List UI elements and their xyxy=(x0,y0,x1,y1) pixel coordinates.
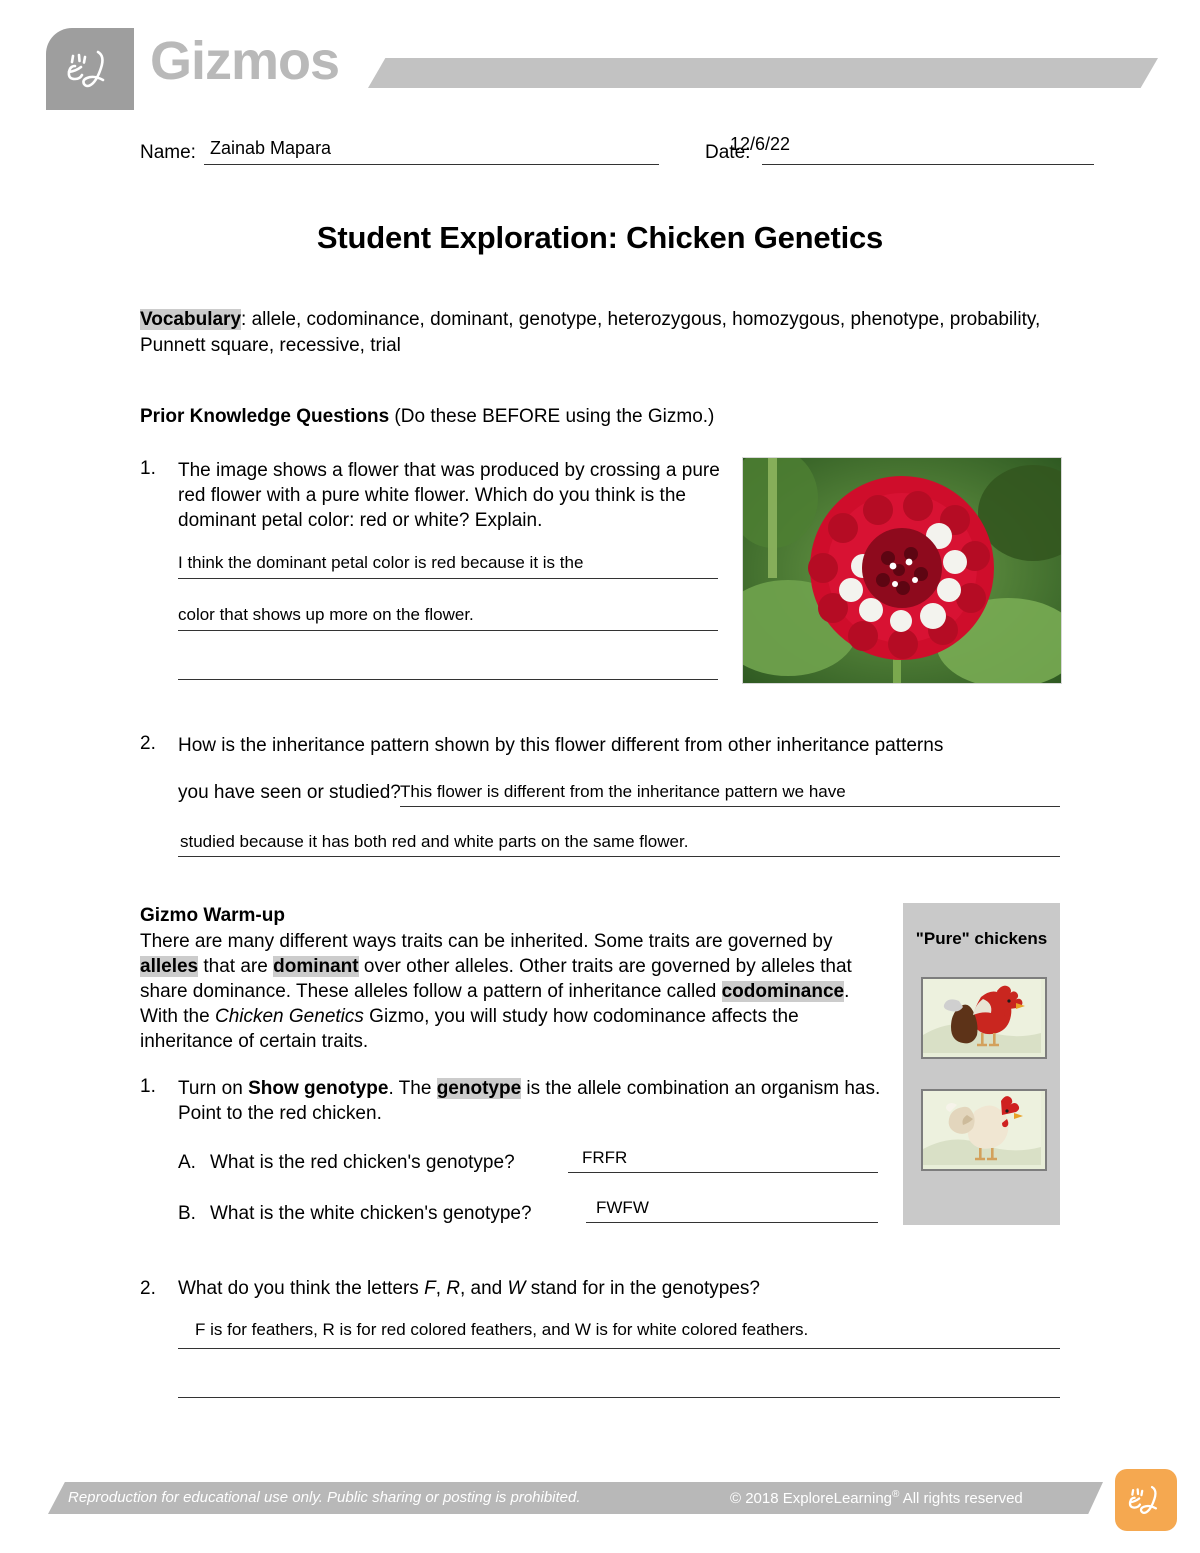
gizmo-q2-rule-1 xyxy=(178,1348,1060,1349)
gizmo-q2-text-b: , xyxy=(436,1278,447,1299)
question-2-answer-line-2[interactable]: studied because it has both red and whit… xyxy=(180,832,688,852)
question-2-rule-1 xyxy=(400,806,1060,807)
footer-notice: Reproduction for educational use only. P… xyxy=(68,1489,581,1506)
date-value[interactable]: 12/6/22 xyxy=(730,134,790,155)
gizmo-question-1-number: 1. xyxy=(140,1076,156,1098)
gizmo-q2-letter-r: R xyxy=(446,1278,460,1299)
question-1-text: The image shows a flower that was produc… xyxy=(178,458,743,533)
question-2-text-line-2: you have seen or studied? xyxy=(178,782,401,804)
prior-knowledge-heading: Prior Knowledge Questions (Do these BEFO… xyxy=(140,406,714,428)
page-title: Student Exploration: Chicken Genetics xyxy=(0,220,1200,256)
header-accent-bar xyxy=(368,58,1158,88)
question-2-text-line-1: How is the inheritance pattern shown by … xyxy=(178,733,1083,758)
gizmo-q1-a-rule xyxy=(568,1172,878,1173)
gizmo-q1-b-rule xyxy=(586,1222,878,1223)
prior-knowledge-heading-rest: (Do these BEFORE using the Gizmo.) xyxy=(389,406,714,427)
gizmo-q1-text-a: Turn on xyxy=(178,1078,248,1099)
vocabulary-terms: allele, codominance, dominant, genotype,… xyxy=(140,309,1040,356)
gizmos-logo-box xyxy=(46,28,134,110)
dahlia-flower-image xyxy=(742,457,1062,684)
name-label: Name: xyxy=(140,142,196,164)
prior-knowledge-heading-bold: Prior Knowledge Questions xyxy=(140,406,389,427)
question-1-number: 1. xyxy=(140,458,156,480)
gizmo-q1-a-text: What is the red chicken's genotype? xyxy=(210,1152,515,1174)
question-1-rule-3 xyxy=(178,679,718,680)
gizmo-q2-text-a: What do you think the letters xyxy=(178,1278,424,1299)
gizmo-q1-a-answer[interactable]: FRFR xyxy=(582,1148,627,1168)
gizmo-question-1-text: Turn on Show genotype. The genotype is t… xyxy=(178,1076,893,1126)
warmup-term-dominant: dominant xyxy=(273,956,359,977)
gizmo-q2-text-c: , and xyxy=(460,1278,508,1299)
gizmo-warmup-heading: Gizmo Warm-up xyxy=(140,905,285,927)
brand-title: Gizmos xyxy=(150,34,339,88)
white-chicken-image xyxy=(921,1089,1047,1171)
gizmo-q2-rule-2 xyxy=(178,1397,1060,1398)
gizmo-q2-text-d: stand for in the genotypes? xyxy=(525,1278,760,1299)
vocabulary-label: Vocabulary xyxy=(140,309,241,330)
warmup-term-alleles: alleles xyxy=(140,956,198,977)
gizmo-question-2-number: 2. xyxy=(140,1278,156,1300)
gizmo-question-2-text: What do you think the letters F, R, and … xyxy=(178,1278,1078,1300)
name-value[interactable]: Zainab Mapara xyxy=(210,138,331,159)
gizmo-q2-letter-w: W xyxy=(508,1278,526,1299)
question-2-number: 2. xyxy=(140,733,156,755)
footer-copyright-text: © 2018 ExploreLearning xyxy=(730,1490,892,1507)
gizmo-q1-term-genotype: genotype xyxy=(437,1078,521,1099)
gizmo-q1-b-letter: B. xyxy=(178,1203,196,1225)
worksheet-page: Gizmos Name: Zainab Mapara Date: 12/6/22… xyxy=(0,0,1200,1553)
name-rule xyxy=(204,164,659,165)
gizmo-q1-show-genotype: Show genotype xyxy=(248,1078,388,1099)
el-script-logo-icon-footer xyxy=(1115,1469,1177,1531)
footer-logo-badge xyxy=(1115,1469,1177,1531)
pure-chickens-panel: "Pure" chickens xyxy=(903,903,1060,1225)
el-script-logo-icon xyxy=(46,28,134,110)
question-2-answer-line-1[interactable]: This flower is different from the inheri… xyxy=(400,782,846,802)
gizmo-q1-text-b: . The xyxy=(388,1078,436,1099)
warmup-text-a: There are many different ways traits can… xyxy=(140,931,832,952)
gizmo-warmup-body: There are many different ways traits can… xyxy=(140,929,880,1054)
footer-copyright: © 2018 ExploreLearning® All rights reser… xyxy=(730,1489,1023,1507)
question-2-rule-2 xyxy=(178,856,1060,857)
warmup-text-b: that are xyxy=(198,956,273,977)
warmup-gizmo-name: Chicken Genetics xyxy=(215,1006,364,1027)
red-chicken-image xyxy=(921,977,1047,1059)
name-date-row: Name: Zainab Mapara Date: 12/6/22 xyxy=(140,134,1060,168)
gizmo-q2-letter-f: F xyxy=(424,1278,436,1299)
footer-rights-text: All rights reserved xyxy=(899,1490,1022,1507)
pure-chickens-title: "Pure" chickens xyxy=(903,929,1060,949)
vocabulary-block: Vocabulary: allele, codominance, dominan… xyxy=(140,307,1070,359)
question-1-answer-line-2[interactable]: color that shows up more on the flower. xyxy=(178,605,474,625)
gizmo-q1-b-text: What is the white chicken's genotype? xyxy=(210,1203,532,1225)
warmup-term-codominance: codominance xyxy=(722,981,844,1002)
question-1-rule-2 xyxy=(178,630,718,631)
date-rule xyxy=(762,164,1094,165)
gizmo-q2-answer-line-1[interactable]: F is for feathers, R is for red colored … xyxy=(195,1320,808,1340)
question-1-rule-1 xyxy=(178,578,718,579)
gizmo-q1-a-letter: A. xyxy=(178,1152,196,1174)
question-1-answer-line-1[interactable]: I think the dominant petal color is red … xyxy=(178,553,583,573)
gizmo-q1-b-answer[interactable]: FWFW xyxy=(596,1198,649,1218)
